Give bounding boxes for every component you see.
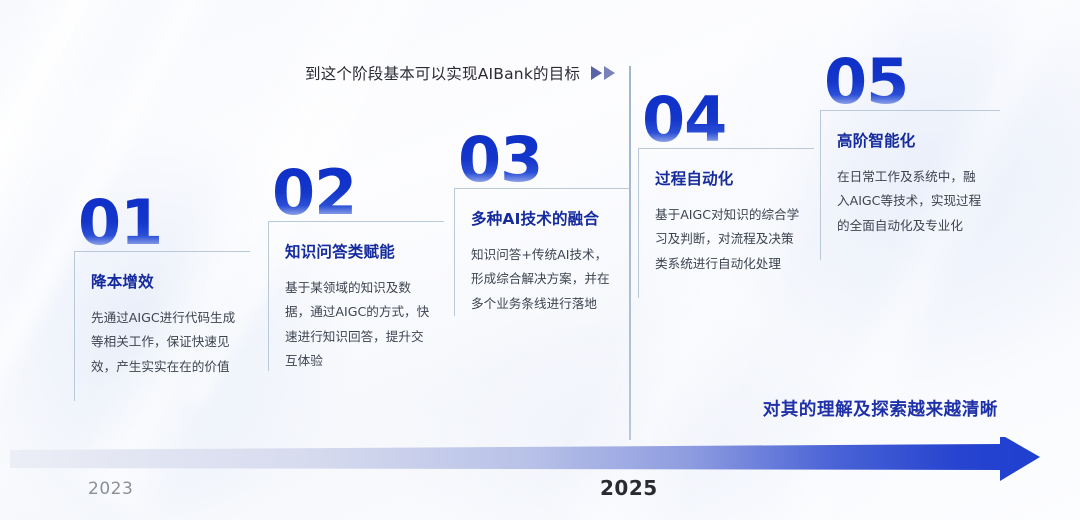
step-card-body: 多种AI技术的融合 知识问答+传统AI技术，形成综合解决方案，并在多个业务条线进… [454,188,630,316]
step-title: 高阶智能化 [837,129,986,151]
step-description: 基于某领域的知识及数据，通过AIGC的方式，快速进行知识回答，提升交互体验 [285,276,430,374]
step-number: 05 [820,55,1000,110]
step-card-body: 降本增效 先通过AIGC进行代码生成等相关工作，保证快速见效，产生实实在在的价值 [74,251,250,401]
step-card-body: 过程自动化 基于AIGC对知识的综合学习及判断，对流程及决策类系统进行自动化处理 [638,148,814,298]
step-card-02: 02 知识问答类赋能 基于某领域的知识及数据，通过AIGC的方式，快速进行知识回… [268,166,444,371]
step-card-03: 03 多种AI技术的融合 知识问答+传统AI技术，形成综合解决方案，并在多个业务… [454,133,630,316]
step-number: 03 [454,133,630,188]
top-annotation: 到这个阶段基本可以实现AIBank的目标 [305,62,615,84]
step-description: 知识问答+传统AI技术，形成综合解决方案，并在多个业务条线进行落地 [471,243,616,317]
top-annotation-arrows [591,66,615,80]
step-title: 降本增效 [91,270,236,292]
step-number: 04 [638,93,814,148]
top-annotation-text: 到这个阶段基本可以实现AIBank的目标 [305,62,580,84]
step-title: 多种AI技术的融合 [471,207,616,229]
step-card-05: 05 高阶智能化 在日常工作及系统中，融入AIGC等技术，实现过程的全面自动化及… [820,55,1000,260]
step-number: 02 [268,166,444,221]
timeline-year-start: 2023 [88,479,133,499]
infographic-canvas: 到这个阶段基本可以实现AIBank的目标 01 降本增效 先通过AIGC进行代码… [0,0,1080,520]
step-title: 知识问答类赋能 [285,240,430,262]
triangle-right-icon [591,66,602,80]
timeline-arrow [0,437,1080,485]
step-description: 先通过AIGC进行代码生成等相关工作，保证快速见效，产生实实在在的价值 [91,306,236,380]
step-description: 在日常工作及系统中，融入AIGC等技术，实现过程的全面自动化及专业化 [837,165,986,239]
step-card-01: 01 降本增效 先通过AIGC进行代码生成等相关工作，保证快速见效，产生实实在在… [74,196,250,401]
step-description: 基于AIGC对知识的综合学习及判断，对流程及决策类系统进行自动化处理 [655,203,800,277]
triangle-right-icon [604,66,615,80]
step-title: 过程自动化 [655,167,800,189]
step-number: 01 [74,196,250,251]
timeline-year-mid: 2025 [600,476,658,500]
step-card-body: 知识问答类赋能 基于某领域的知识及数据，通过AIGC的方式，快速进行知识回答，提… [268,221,444,371]
step-card-body: 高阶智能化 在日常工作及系统中，融入AIGC等技术，实现过程的全面自动化及专业化 [820,110,1000,260]
step-card-04: 04 过程自动化 基于AIGC对知识的综合学习及判断，对流程及决策类系统进行自动… [638,93,814,298]
bottom-caption: 对其的理解及探索越来越清晰 [763,396,998,421]
